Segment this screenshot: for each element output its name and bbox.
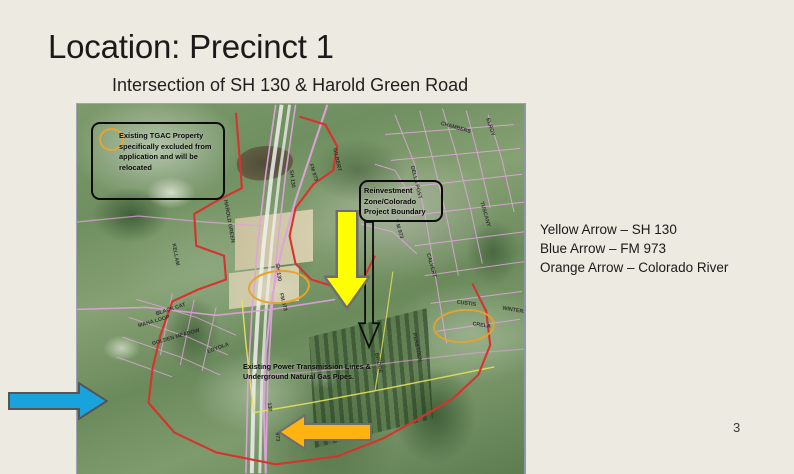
legend-item-orange: Orange Arrow – Colorado River (540, 258, 728, 277)
reinvestment-zone-note-text: Reinvestment Zone/Colorado Project Bound… (364, 186, 442, 218)
svg-text:130: 130 (266, 402, 273, 412)
tgac-note-text: Existing TGAC Property specifically excl… (119, 131, 219, 173)
svg-text:KELLAM: KELLAM (170, 243, 180, 267)
yellow-arrow (324, 210, 370, 310)
svg-text:WINTERS DRN: WINTERS DRN (502, 305, 526, 317)
power-transmission-note-text: Existing Power Transmission Lines & Unde… (243, 362, 403, 382)
svg-text:SH 130: SH 130 (288, 170, 296, 189)
page-number: 3 (733, 420, 740, 435)
blue-arrow (8, 382, 108, 420)
legend-item-yellow: Yellow Arrow – SH 130 (540, 220, 728, 239)
orange-arrow (278, 414, 372, 450)
svg-text:CHAMBERS: CHAMBERS (440, 121, 472, 135)
page-title: Location: Precinct 1 (48, 28, 334, 66)
svg-text:PENSTOCK: PENSTOCK (411, 332, 423, 362)
svg-text:ELROY: ELROY (484, 117, 496, 137)
legend-item-blue: Blue Arrow – FM 973 (540, 239, 728, 258)
map-street-grid-east (361, 109, 524, 343)
svg-text:FM 973: FM 973 (308, 163, 319, 182)
page-subtitle: Intersection of SH 130 & Harold Green Ro… (112, 74, 468, 96)
svg-text:LOYOLA: LOYOLA (207, 342, 230, 355)
slide-canvas: Location: Precinct 1 Intersection of SH … (0, 0, 794, 474)
svg-text:HAROLD GREEN: HAROLD GREEN (222, 199, 235, 243)
arrow-legend: Yellow Arrow – SH 130 Blue Arrow – FM 97… (540, 220, 728, 277)
svg-text:CUSTIS: CUSTIS (456, 299, 477, 308)
